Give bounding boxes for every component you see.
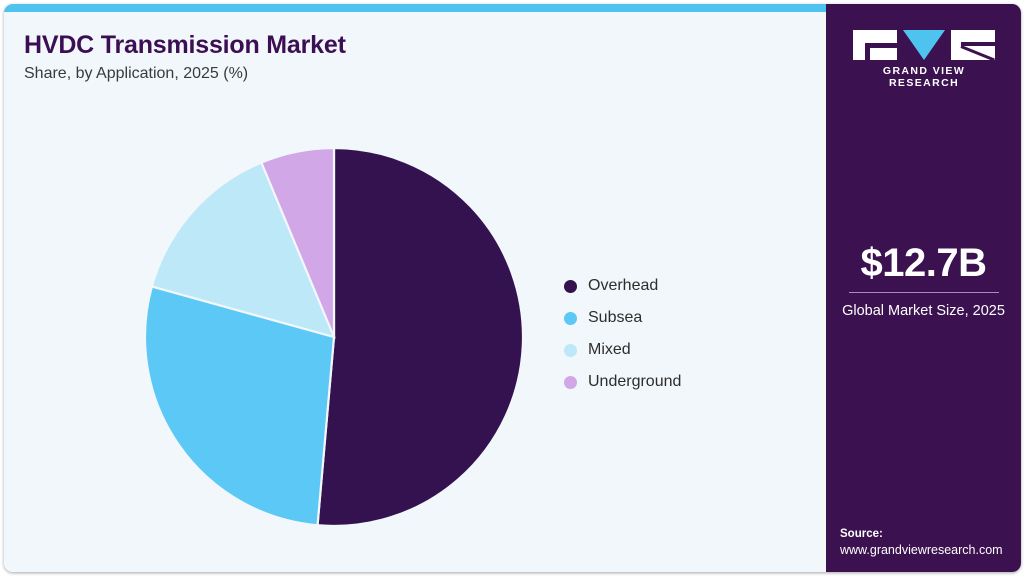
chart-card: HVDC Transmission Market Share, by Appli… xyxy=(4,4,1021,572)
legend-label: Mixed xyxy=(588,341,631,359)
chart-legend: OverheadSubseaMixedUnderground xyxy=(564,270,681,398)
pie-chart xyxy=(134,135,544,545)
legend-swatch-icon xyxy=(564,344,577,357)
gvr-logo-marks xyxy=(853,30,995,60)
legend-item[interactable]: Underground xyxy=(564,366,681,398)
logo-wordmark: GRAND VIEW RESEARCH xyxy=(853,65,995,89)
pie-slice[interactable] xyxy=(318,148,523,526)
legend-swatch-icon xyxy=(564,312,577,325)
legend-swatch-icon xyxy=(564,280,577,293)
source-url[interactable]: www.grandviewresearch.com xyxy=(840,542,1020,558)
legend-swatch-icon xyxy=(564,376,577,389)
stat-label: Global Market Size, 2025 xyxy=(826,301,1021,321)
source-block: Source: www.grandviewresearch.com xyxy=(840,526,1020,558)
page-title: HVDC Transmission Market xyxy=(24,31,346,60)
logo-r-slot xyxy=(961,42,995,46)
pie-chart-svg xyxy=(134,135,544,545)
brand-panel: GRAND VIEW RESEARCH $12.7B Global Market… xyxy=(826,4,1021,572)
market-size-stat: $12.7B Global Market Size, 2025 xyxy=(826,240,1021,321)
chart-panel: HVDC Transmission Market Share, by Appli… xyxy=(4,12,826,572)
legend-item[interactable]: Mixed xyxy=(564,334,681,366)
legend-item[interactable]: Overhead xyxy=(564,270,681,302)
legend-label: Overhead xyxy=(588,277,658,295)
stat-divider xyxy=(849,292,999,293)
page-subtitle: Share, by Application, 2025 (%) xyxy=(24,65,248,83)
logo-g-notch-vertical xyxy=(865,43,870,60)
legend-item[interactable]: Subsea xyxy=(564,302,681,334)
accent-top-bar xyxy=(4,4,826,12)
legend-label: Subsea xyxy=(588,309,642,327)
stat-value: $12.7B xyxy=(826,240,1021,286)
legend-label: Underground xyxy=(588,373,681,391)
pie-slice-group xyxy=(145,148,523,526)
source-title: Source: xyxy=(840,526,1020,542)
logo-v-triangle-icon xyxy=(903,30,945,60)
gvr-logo: GRAND VIEW RESEARCH xyxy=(853,30,995,82)
